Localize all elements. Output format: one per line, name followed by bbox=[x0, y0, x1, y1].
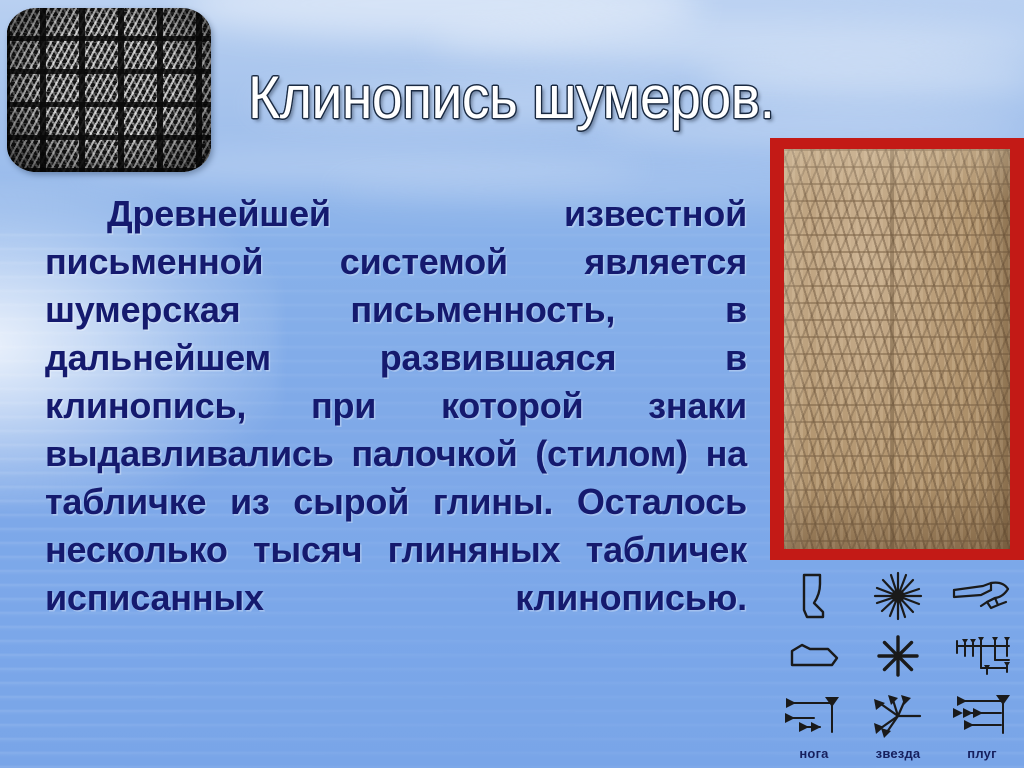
sign-label-star: звезда bbox=[856, 746, 940, 768]
clay-tablet-shading bbox=[784, 149, 1010, 549]
star-cuneiform-icon bbox=[856, 686, 940, 746]
presentation-slide: Клинопись шумеров. Древнейшей известной … bbox=[0, 0, 1024, 768]
plough-pictogram-icon bbox=[940, 566, 1024, 626]
plough-cuneiform-icon bbox=[940, 686, 1024, 746]
leg-cuneiform-icon bbox=[772, 686, 856, 746]
body-paragraph: Древнейшей известной письменной системой… bbox=[45, 190, 747, 670]
page-title: Клинопись шумеров. bbox=[248, 64, 892, 132]
sign-row-cuneiform bbox=[772, 686, 1024, 746]
clay-cuneiform-tablet-photo bbox=[784, 149, 1010, 549]
sign-label-plough: плуг bbox=[940, 746, 1024, 768]
leg-linear-icon bbox=[772, 626, 856, 686]
star-linear-icon bbox=[856, 626, 940, 686]
sign-row-linear bbox=[772, 626, 1024, 686]
sign-label-leg: нога bbox=[772, 746, 856, 768]
sign-row-pictogram bbox=[772, 566, 1024, 626]
sign-label-row: нога звезда плуг bbox=[772, 746, 1024, 768]
pictogram-to-cuneiform-evolution-chart: нога звезда плуг bbox=[772, 566, 1024, 768]
plough-linear-icon bbox=[940, 626, 1024, 686]
clay-tablet-frame bbox=[770, 138, 1024, 560]
tablet-vignette bbox=[7, 8, 211, 172]
star-pictogram-icon bbox=[856, 566, 940, 626]
leg-pictogram-icon bbox=[772, 566, 856, 626]
black-and-white-cuneiform-tablet-photo bbox=[7, 8, 211, 172]
